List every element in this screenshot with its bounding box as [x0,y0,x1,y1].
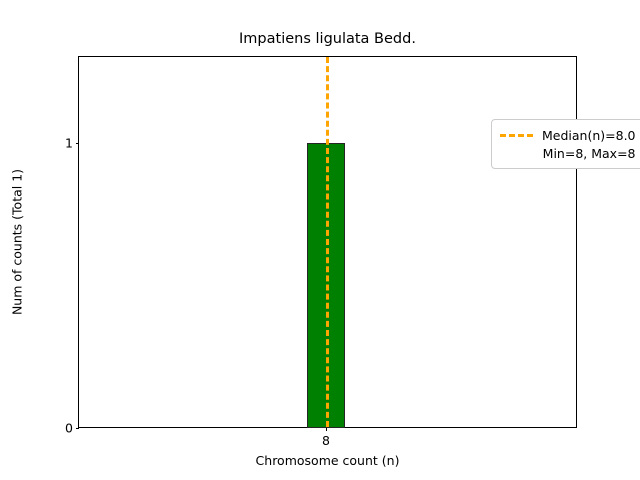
dashed-line-icon [500,134,533,137]
legend-entry-median: Median(n)=8.0 [500,126,636,144]
y-tick-label-1: 1 [65,136,73,151]
x-axis-label: Chromosome count (n) [78,453,577,468]
plot-area: 0 1 8 Median(n)=8.0 Min=8, Max=8 [78,56,577,428]
legend-label-minmax: Min=8, Max=8 [542,146,636,161]
y-tick-mark-1 [76,143,80,144]
y-axis-label-container: Num of counts (Total 1) [0,56,34,428]
x-tick-label-8: 8 [322,433,330,448]
chart-legend: Median(n)=8.0 Min=8, Max=8 [491,119,640,169]
y-tick-label-0: 0 [65,421,73,436]
chart-figure: Impatiens ligulata Bedd. Num of counts (… [0,0,640,480]
chart-title: Impatiens ligulata Bedd. [78,30,577,48]
median-line [326,57,329,427]
blank-swatch-icon [500,152,533,155]
y-axis-label: Num of counts (Total 1) [10,169,25,315]
legend-entry-minmax: Min=8, Max=8 [500,144,636,162]
legend-label-median: Median(n)=8.0 [542,128,636,143]
y-tick-mark-0 [76,428,80,429]
